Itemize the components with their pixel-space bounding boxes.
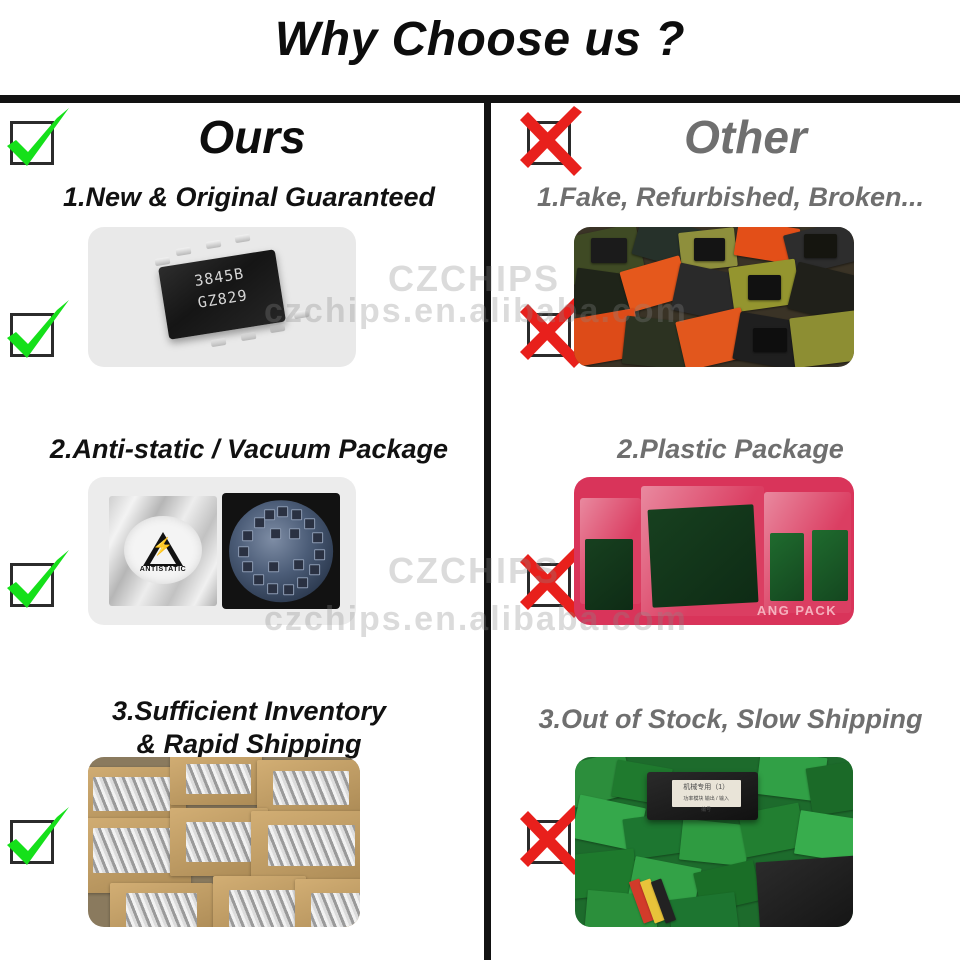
photo-plastic-package: ANG PACK: [574, 477, 854, 625]
plastic-pack-text: ANG PACK: [757, 603, 837, 618]
feature-2-text-other: 2.Plastic Package: [491, 433, 960, 466]
check-mark-icon: [0, 104, 77, 182]
photo-antistatic-vacuum-package: ⚡ ANTISTATIC: [88, 477, 356, 625]
feature-3-text-other: 3.Out of Stock, Slow Shipping: [491, 703, 960, 736]
check-box-row-2: [10, 563, 54, 607]
x-box-row-2: [527, 563, 571, 607]
antistatic-bag: ⚡ ANTISTATIC: [109, 496, 216, 606]
column-divider-vertical: [484, 103, 491, 960]
feature-1-text-ours: 1.New & Original Guaranteed: [0, 181, 484, 214]
feature-3-text-ours: 3.Sufficient Inventory & Rapid Shipping: [0, 695, 484, 761]
header-divider-horizontal: [0, 95, 960, 103]
x-mark-icon: [516, 104, 594, 182]
photo-inventory-boxes: [88, 757, 360, 927]
module-label-line-2: 功率模块 输出 / 输入: [672, 796, 741, 804]
feature-row-3-other: 3.Out of Stock, Slow Shipping: [491, 695, 960, 960]
module-label-line-1: 机械专用（1）: [672, 783, 741, 794]
feature-2-text-ours: 2.Anti-static / Vacuum Package: [0, 433, 484, 466]
module-label-line-3: 编号: [672, 807, 741, 815]
feature-row-2-other: 2.Plastic Package ANG PACK: [491, 433, 960, 695]
x-box-row-1: [527, 313, 571, 357]
check-mark-icon: [0, 296, 77, 374]
column-other: Other 1.Fake, Refurbished, Broken...: [491, 103, 960, 960]
component-reel-tray: [222, 493, 340, 608]
antistatic-label: ANTISTATIC: [124, 566, 201, 573]
column-ours: Ours 1.New & Original Guaranteed: [0, 103, 484, 960]
feature-row-3-ours: 3.Sufficient Inventory & Rapid Shipping: [0, 695, 484, 960]
reel: [229, 500, 333, 602]
feature-row-2-ours: 2.Anti-static / Vacuum Package ⚡ ANTISTA…: [0, 433, 484, 695]
feature-1-text-other: 1.Fake, Refurbished, Broken...: [491, 181, 960, 214]
chip-body: 3845B GZ829: [158, 249, 286, 339]
black-power-module: 机械专用（1） 功率模块 输出 / 输入 编号: [647, 772, 758, 820]
check-mark-icon: [0, 803, 77, 881]
check-box-header: [10, 121, 54, 165]
feature-row-1-other: 1.Fake, Refurbished, Broken...: [491, 181, 960, 443]
check-mark-icon: [0, 546, 77, 624]
page-title: Why Choose us ?: [0, 14, 960, 67]
lightning-bolt-icon: ⚡: [152, 538, 173, 555]
x-box-row-3: [527, 820, 571, 864]
photo-fake-refurbished-broken-chips: [574, 227, 854, 367]
photo-new-original-chip: 3845B GZ829: [88, 227, 356, 367]
module-label: 机械专用（1） 功率模块 输出 / 输入 编号: [672, 780, 741, 807]
why-choose-us-infographic: Why Choose us ? Ours 1.New & Original Gu…: [0, 0, 960, 960]
photo-out-of-stock-pcb-scrap: 机械专用（1） 功率模块 输出 / 输入 编号: [575, 757, 853, 927]
check-box-row-3: [10, 820, 54, 864]
bag-disc: ⚡ ANTISTATIC: [124, 516, 201, 584]
feature-row-1-ours: 1.New & Original Guaranteed 3845B GZ829: [0, 181, 484, 443]
check-box-row-1: [10, 313, 54, 357]
x-box-header: [527, 121, 571, 165]
